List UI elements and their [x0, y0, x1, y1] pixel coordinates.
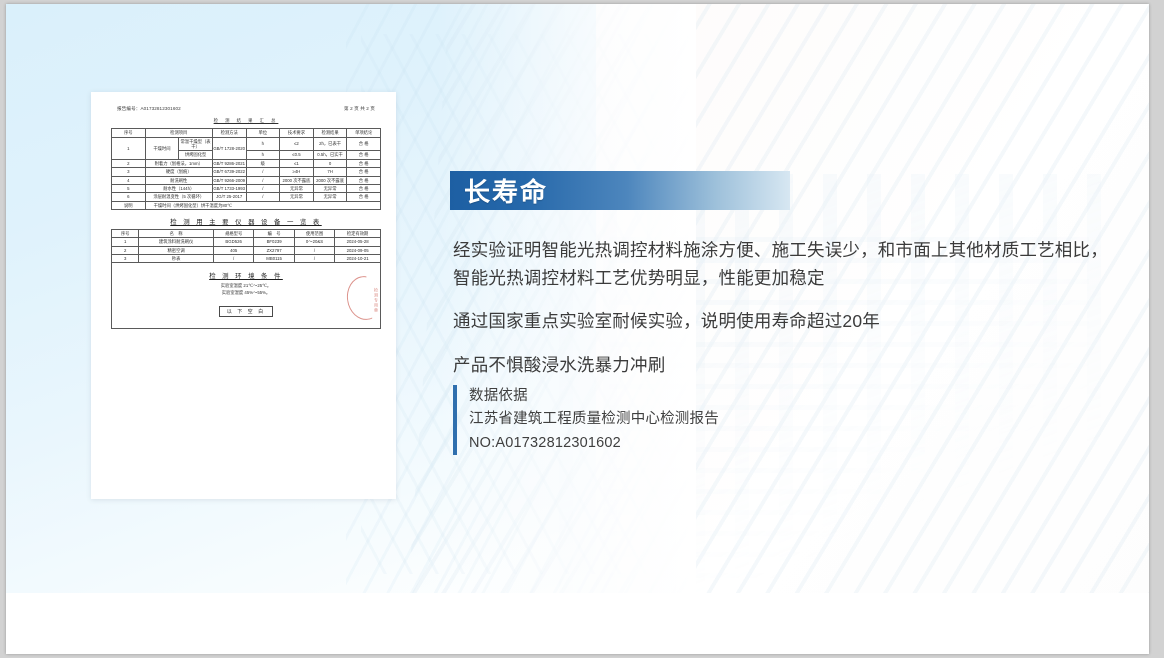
th-result: 检测结果 [313, 129, 347, 137]
equipment-title: 检 测 用 主 要 仪 器 设 备 一 览 表 [111, 217, 381, 226]
cell-method: JG/T 25-2017 [212, 193, 246, 201]
cell-eq-no: 2 [112, 246, 139, 254]
table-row: 1 建筑涂料耐洗刷仪 BGD526 BF0239 0～20&S 2024-05-… [112, 238, 381, 246]
note-label: 说明 [112, 201, 146, 209]
table-header-row: 序号 检测项目 检测方法 单位 技术要求 检测结果 单项结论 [112, 129, 381, 137]
page-title: 长寿命 [464, 172, 548, 209]
table-row: 6 涂层耐温变性（5 次循环） JG/T 25-2017 / 无异常 无异常 合… [112, 193, 381, 201]
cell-eq-range: 0～20&S [294, 238, 334, 246]
cell-method: GB/T 1733-1993 [212, 184, 246, 192]
cell-result: 0 [313, 159, 347, 167]
cell-no: 1 [112, 137, 146, 159]
th-eq-serial: 编 号 [254, 229, 294, 237]
cell-eq-model: 405 [213, 246, 253, 254]
cell-no: 5 [112, 184, 146, 192]
table-row: 3 硬度（划痕） GB/T 6739-2022 / ≥4H 7H 合 格 [112, 168, 381, 176]
cell-no: 4 [112, 176, 146, 184]
cell-eq-range: / [294, 246, 334, 254]
cell-eq-name: 建筑涂料耐洗刷仪 [139, 238, 214, 246]
certificate-document-image[interactable]: 报告编号：A01732812301602 第 2 页 共 2 页 检 测 结 果… [91, 92, 396, 499]
cell-item: 耐洗刷性 [145, 176, 212, 184]
data-source-label: 数据依据 [469, 385, 719, 408]
cell-conclusion: 合 格 [347, 137, 381, 151]
environment-title: 检 测 环 境 条 件 [112, 271, 380, 280]
cell-eq-name: 精密空调 [139, 246, 214, 254]
cell-result: 7H [313, 168, 347, 176]
cell-result: 无异常 [313, 184, 347, 192]
data-source-org: 江苏省建筑工程质量检测中心检测报告 [469, 408, 719, 431]
page-number: 第 2 页 共 2 页 [344, 106, 375, 112]
environment-conditions-box: 检 测 环 境 条 件 实验室温度 21℃～25℃。 实验室湿度 45%～55%… [111, 263, 381, 328]
document-header: 报告编号：A01732812301602 第 2 页 共 2 页 [111, 106, 381, 114]
table-row: 3 秒表 / MB0115 / 2024-10-21 [112, 255, 381, 263]
cell-method: GB/T 9266-2009 [212, 176, 246, 184]
th-conclusion: 单项结论 [347, 129, 381, 137]
cell-conclusion: 合 格 [347, 168, 381, 176]
th-unit: 单位 [246, 129, 280, 137]
th-eq-model: 规格型号 [213, 229, 253, 237]
cell-eq-model: BGD526 [213, 238, 253, 246]
cell-eq-name: 秒表 [139, 255, 214, 263]
table-row: 2 附着力（划格法，1mm） GB/T 9286-2021 级 ≤1 0 合 格 [112, 159, 381, 167]
cell-conclusion: 合 格 [347, 151, 381, 159]
paragraph-3: 产品不惧酸浸水洗暴力冲刷 [453, 351, 1118, 379]
cell-requirement: ≤1 [280, 159, 314, 167]
cell-method: GB/T 1728-2020 [212, 137, 246, 159]
th-eq-name: 名 称 [139, 229, 214, 237]
seal-text: 检测专用章 [373, 288, 379, 313]
cell-unit: 级 [246, 159, 280, 167]
slide-footer: 京芯新材料 JINGXIN NANO MATERIALS [6, 593, 1149, 654]
cell-eq-no: 1 [112, 238, 139, 246]
cell-eq-range: / [294, 255, 334, 263]
document-content: 报告编号：A01732812301602 第 2 页 共 2 页 检 测 结 果… [111, 106, 381, 329]
document-sheet: 报告编号：A01732812301602 第 2 页 共 2 页 检 测 结 果… [97, 98, 389, 493]
cell-item-group: 干燥时间 [145, 137, 179, 159]
cell-unit: h [246, 151, 280, 159]
th-no: 序号 [112, 129, 146, 137]
cell-eq-valid: 2024-10-21 [335, 255, 381, 263]
report-number: 报告编号：A01732812301602 [117, 106, 181, 112]
paragraph-2: 通过国家重点实验室耐候实验，说明使用寿命超过20年 [453, 307, 1118, 335]
cell-eq-no: 3 [112, 255, 139, 263]
table-row: 2 精密空调 405 ZX2797 / 2024-09-05 [112, 246, 381, 254]
body-copy: 经实验证明智能光热调控材料施涂方便、施工失误少，和市面上其他材质工艺相比，智能光… [453, 236, 1118, 379]
cell-unit: / [246, 184, 280, 192]
test-results-table: 检 测 结 果 汇 总 序号 检测项目 检测方法 单位 技术要求 检测结果 单项… [111, 114, 381, 210]
results-title: 检 测 结 果 汇 总 [112, 114, 381, 129]
cell-unit: / [246, 168, 280, 176]
cell-method: GB/T 9286-2021 [212, 159, 246, 167]
cell-result: 2000 次不露底 [313, 176, 347, 184]
cell-no: 2 [112, 159, 146, 167]
cell-item: 涂层耐温变性（5 次循环） [145, 193, 212, 201]
cell-unit: h [246, 137, 280, 151]
data-source-number: NO:A01732812301602 [469, 432, 719, 455]
cell-conclusion: 合 格 [347, 176, 381, 184]
cell-eq-serial: MB0115 [254, 255, 294, 263]
cell-method: GB/T 6739-2022 [212, 168, 246, 176]
th-eq-no: 序号 [112, 229, 139, 237]
cell-requirement: 无异常 [280, 193, 314, 201]
cell-conclusion: 合 格 [347, 193, 381, 201]
blank-below-tag: 以 下 空 白 [219, 306, 273, 317]
paragraph-1: 经实验证明智能光热调控材料施涂方便、施工失误少，和市面上其他材质工艺相比，智能光… [453, 236, 1118, 293]
table-note-row: 说明 干燥时间（烘烤固化型）烘干温度为80℃ [112, 201, 381, 209]
th-eq-valid: 检定有效期 [335, 229, 381, 237]
cell-item: 烘烤固化型 [179, 151, 213, 159]
cell-unit: / [246, 193, 280, 201]
cell-eq-serial: ZX2797 [254, 246, 294, 254]
cell-item: 硬度（划痕） [145, 168, 212, 176]
cell-eq-valid: 2024-05-28 [335, 238, 381, 246]
cell-result: 0.5h，已实干 [313, 151, 347, 159]
cell-no: 3 [112, 168, 146, 176]
table-title-row: 检 测 结 果 汇 总 [112, 114, 381, 129]
th-item: 检测项目 [145, 129, 212, 137]
cell-conclusion: 合 格 [347, 159, 381, 167]
environment-humidity: 实验室湿度 45%～55%。 [112, 290, 380, 297]
cell-item: 常温干燥型（表干） [179, 137, 213, 151]
cell-conclusion: 合 格 [347, 184, 381, 192]
cell-requirement: ≤2 [280, 137, 314, 151]
data-source-block: 数据依据 江苏省建筑工程质量检测中心检测报告 NO:A0173281230160… [453, 385, 719, 455]
section-headline-banner: 长寿命 [450, 171, 790, 210]
cell-unit: / [246, 176, 280, 184]
table-row: 4 耐洗刷性 GB/T 9266-2009 / 2000 次不露底 2000 次… [112, 176, 381, 184]
cell-eq-serial: BF0239 [254, 238, 294, 246]
table-row: 5 耐水性（144h） GB/T 1733-1993 / 无异常 无异常 合 格 [112, 184, 381, 192]
slide: 报告编号：A01732812301602 第 2 页 共 2 页 检 测 结 果… [6, 4, 1149, 654]
th-requirement: 技术要求 [280, 129, 314, 137]
cell-requirement: 2000 次不露底 [280, 176, 314, 184]
cell-requirement: ≤0.5 [280, 151, 314, 159]
cell-item: 耐水性（144h） [145, 184, 212, 192]
cell-no: 6 [112, 193, 146, 201]
table-row: 1 干燥时间 常温干燥型（表干） GB/T 1728-2020 h ≤2 2h，… [112, 137, 381, 151]
screenshot-viewport: 报告编号：A01732812301602 第 2 页 共 2 页 检 测 结 果… [0, 0, 1164, 658]
th-eq-range: 使用范围 [294, 229, 334, 237]
cell-item: 附着力（划格法，1mm） [145, 159, 212, 167]
cell-result: 无异常 [313, 193, 347, 201]
cell-requirement: ≥4H [280, 168, 314, 176]
cell-eq-model: / [213, 255, 253, 263]
equipment-header-row: 序号 名 称 规格型号 编 号 使用范围 检定有效期 [112, 229, 381, 237]
note-text: 干燥时间（烘烤固化型）烘干温度为80℃ [145, 201, 380, 209]
th-method: 检测方法 [212, 129, 246, 137]
cell-requirement: 无异常 [280, 184, 314, 192]
cell-eq-valid: 2024-09-05 [335, 246, 381, 254]
equipment-table: 序号 名 称 规格型号 编 号 使用范围 检定有效期 1 建筑涂料耐洗刷仪 BG… [111, 229, 381, 263]
cell-result: 2h，已表干 [313, 137, 347, 151]
